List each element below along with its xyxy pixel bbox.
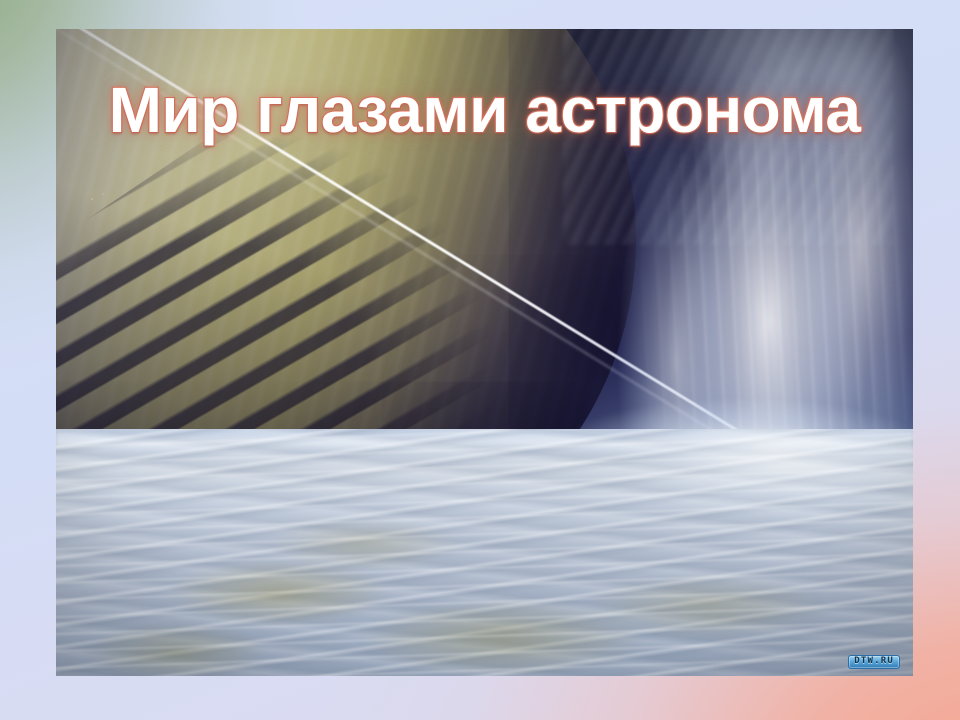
slide-background-image: DTW.RU: [56, 29, 913, 676]
geyser-wisps: [563, 29, 893, 245]
watermark-badge: DTW.RU: [848, 655, 900, 669]
terrain-mist: [553, 429, 913, 559]
icy-terrain-foreground: [56, 429, 913, 676]
presentation-slide: DTW.RU Мир глазами астронома: [0, 0, 960, 720]
